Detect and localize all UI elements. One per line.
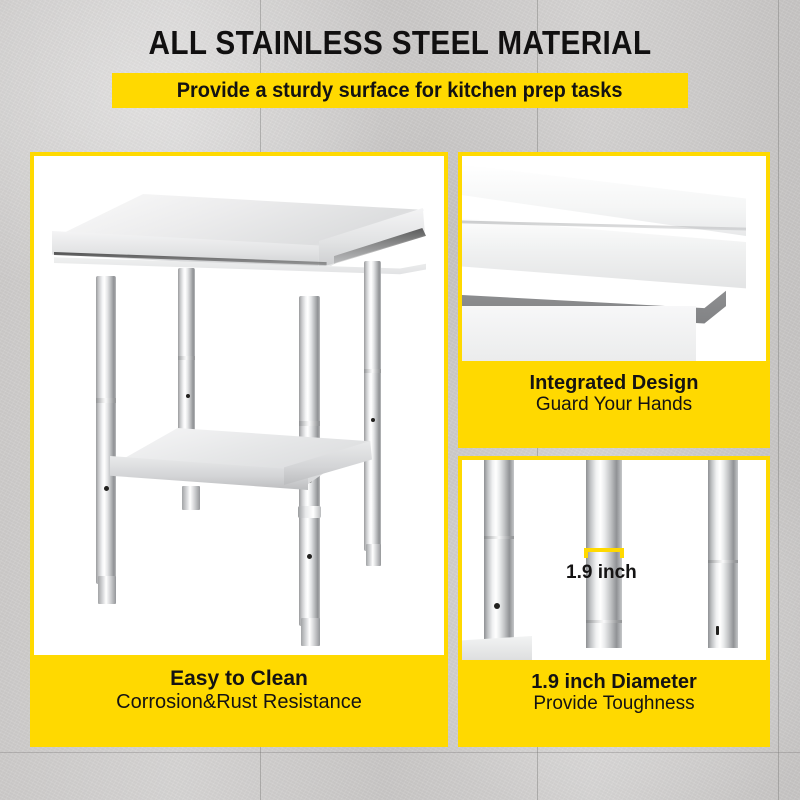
leg-joint: [178, 356, 195, 360]
panel-leg-detail: 1.9 inch 1.9 inch Diameter Provide Tough…: [458, 456, 770, 747]
caption-headline: 1.9 inch Diameter: [462, 671, 766, 693]
leg-bolt: [371, 418, 375, 422]
edge-lower-body: [462, 306, 696, 361]
subtitle-banner: Provide a sturdy surface for kitchen pre…: [112, 73, 688, 108]
leg-foot: [98, 576, 116, 604]
closeup-leg-left-joint: [484, 536, 514, 539]
caption-edge-detail: Integrated Design Guard Your Hands: [462, 361, 766, 444]
leg-bolt: [186, 394, 190, 398]
closeup-leg-right: [708, 460, 738, 648]
closeup-leg-bolt: [716, 626, 719, 635]
leg-foot: [366, 544, 381, 566]
leg-joint: [96, 398, 116, 403]
panel-main-product: Easy to Clean Corrosion&Rust Resistance: [30, 152, 448, 747]
closeup-leg-bolt: [494, 603, 500, 609]
tile-seam: [0, 752, 800, 753]
leg-joint: [299, 421, 320, 426]
leg-bolt: [307, 554, 312, 559]
product-infographic: ALL STAINLESS STEEL MATERIAL Provide a s…: [0, 0, 800, 800]
tile-seam: [778, 0, 779, 800]
caption-subline: Corrosion&Rust Resistance: [34, 691, 444, 714]
leg-joint: [364, 369, 381, 373]
leg-bolt: [104, 486, 109, 491]
product-photo-edge: [462, 156, 766, 361]
dimension-label: 1.9 inch: [566, 562, 637, 584]
edge-side-band: [462, 218, 746, 298]
dimension-bracket: [584, 548, 624, 558]
caption-headline: Integrated Design: [462, 372, 766, 394]
table-leg-back-right: [364, 261, 381, 551]
caption-leg-detail: 1.9 inch Diameter Provide Toughness: [462, 660, 766, 743]
closeup-leg-left: [484, 460, 514, 642]
undershelf-center-foot: [182, 486, 200, 510]
product-photo-legs: 1.9 inch: [462, 460, 766, 660]
closeup-leg-right-joint: [708, 560, 738, 563]
caption-subline: Guard Your Hands: [462, 394, 766, 416]
caption-headline: Easy to Clean: [34, 667, 444, 691]
caption-main-product: Easy to Clean Corrosion&Rust Resistance: [34, 655, 444, 743]
leg-foot: [301, 618, 320, 646]
subtitle-text: Provide a sturdy surface for kitchen pre…: [177, 79, 623, 103]
table-leg-front-left: [96, 276, 116, 584]
page-title: ALL STAINLESS STEEL MATERIAL: [40, 24, 760, 62]
closeup-leg-center-joint: [586, 620, 622, 623]
product-photo-main: [34, 156, 444, 655]
caption-subline: Provide Toughness: [462, 693, 766, 715]
panel-edge-detail: Integrated Design Guard Your Hands: [458, 152, 770, 448]
leg-collar: [298, 506, 321, 518]
closeup-shelf-corner: [462, 636, 532, 660]
